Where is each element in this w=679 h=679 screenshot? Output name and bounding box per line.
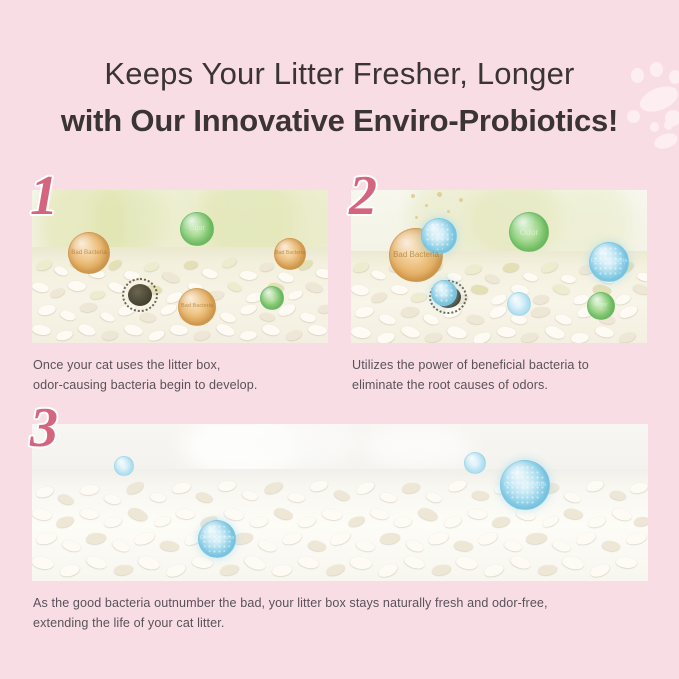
bubble-label: Odor <box>520 228 539 237</box>
bubble-label: Good Bacteria <box>200 536 234 542</box>
bubble-odor: Odor <box>509 212 549 252</box>
step-number-3: 3 <box>30 400 58 456</box>
bubble-label: Good Bacteria <box>504 482 546 489</box>
step-1-caption: Once your cat uses the litter box, odor-… <box>33 356 333 395</box>
bubble-label: Good Bacteria <box>590 259 627 265</box>
bubble-bad-bacteria: Bad Bacteria <box>68 232 110 274</box>
bubble-bad-bacteria: Bad Bacteria <box>178 288 216 326</box>
bubble-label: Bad Bacteria <box>71 250 106 256</box>
bubble-good-bacteria: Good Bacteria <box>198 520 236 558</box>
bubble-water-droplet <box>507 292 531 316</box>
bubble-bad-bacteria: Bad Bacteria <box>274 238 306 270</box>
headline-line-2: with Our Innovative Enviro-Probiotics! <box>0 103 679 139</box>
step-number-1: 1 <box>30 168 58 224</box>
bubble-water-droplet <box>114 456 134 476</box>
step-3-image: Good Bacteria Good Bacteria <box>32 424 648 581</box>
odor-speck <box>437 192 442 197</box>
step-1-image: Bad Bacteria Odor Bad Bacteria Bad Bacte… <box>32 190 328 343</box>
bubble-odor-small <box>260 286 284 310</box>
bubble-good-bacteria-small <box>431 280 457 306</box>
bubble-label: Bad Bacteria <box>393 251 439 259</box>
odor-speck <box>425 204 428 207</box>
bubble-odor: Odor <box>180 212 214 246</box>
bacteria-texture <box>434 283 454 303</box>
step-2-image: Bad Bacteria Good Bacteria Odor Good Bac… <box>351 190 647 343</box>
step-2-caption: Utilizes the power of beneficial bacteri… <box>352 356 652 395</box>
headline-line-1: Keeps Your Litter Fresher, Longer <box>0 56 679 92</box>
germ-cluster <box>128 284 152 306</box>
step-number-2: 2 <box>349 168 377 224</box>
odor-speck <box>459 198 463 202</box>
step-3-caption: As the good bacteria outnumber the bad, … <box>33 594 653 633</box>
bubble-label: Good Bacteria <box>422 231 456 242</box>
bubble-good-bacteria: Good Bacteria <box>589 242 629 282</box>
bubble-label: Bad Bacteria <box>275 251 305 256</box>
promo-infographic: Keeps Your Litter Fresher, Longer with O… <box>0 0 679 679</box>
bubble-label: Odor <box>595 303 607 309</box>
fresh-air-wisp <box>362 426 472 470</box>
bubble-good-bacteria: Good Bacteria <box>421 218 457 254</box>
bubble-label: Odor <box>189 225 205 232</box>
bubble-odor-small: Odor <box>587 292 615 320</box>
bubble-label: Bad Bacteria <box>181 304 213 310</box>
odor-speck <box>411 194 415 198</box>
bubble-water-droplet <box>464 452 486 474</box>
bubble-good-bacteria: Good Bacteria <box>500 460 550 510</box>
litter-bed <box>32 469 648 581</box>
odor-speck <box>447 210 450 213</box>
odor-speck <box>415 216 418 219</box>
